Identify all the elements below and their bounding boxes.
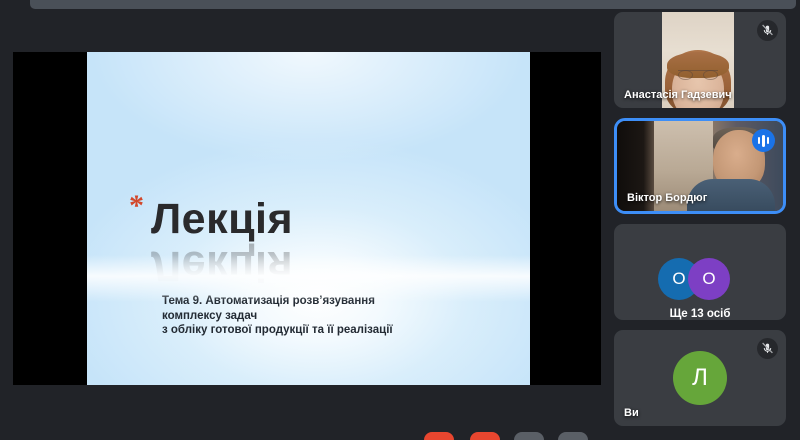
slide-title-reflection: Лекція bbox=[151, 242, 293, 290]
participant-tile-viktor[interactable]: Віктор Бордюг bbox=[614, 118, 786, 214]
slide-subtitle: Тема 9. Автоматизація розв’язування комп… bbox=[162, 294, 492, 338]
participant-filmstrip[interactable]: Анастасія Гадзевич Віктор Бордюг О О Ще … bbox=[614, 12, 786, 430]
slide-subtitle-line-3: з обліку готової продукції та її реаліза… bbox=[162, 323, 492, 338]
toolbar-button-2[interactable] bbox=[470, 432, 500, 440]
participant-name: Ви bbox=[624, 407, 639, 419]
presentation-slide: * Лекція Лекція Тема 9. Автоматизація ро… bbox=[87, 52, 530, 385]
mic-muted-icon bbox=[757, 338, 778, 359]
participant-name: Анастасія Гадзевич bbox=[624, 89, 732, 101]
meeting-toolbar[interactable] bbox=[0, 426, 614, 440]
toolbar-button-4[interactable] bbox=[558, 432, 588, 440]
slide-subtitle-line-2: комплексу задач bbox=[162, 309, 492, 324]
participant-name: Віктор Бордюг bbox=[627, 192, 707, 204]
avatar: Л bbox=[673, 351, 727, 405]
avatar: О bbox=[688, 258, 730, 300]
audio-wave-icon bbox=[752, 129, 775, 152]
avatar-group: О О bbox=[658, 258, 742, 300]
slide-subtitle-line-1: Тема 9. Автоматизація розв’язування bbox=[162, 294, 492, 309]
window-title-bar bbox=[30, 0, 796, 9]
participant-tile-self[interactable]: Л Ви bbox=[614, 330, 786, 426]
asterisk-bullet-icon: * bbox=[129, 191, 144, 221]
slide-title: Лекція bbox=[151, 195, 293, 243]
shared-screen-stage[interactable]: * Лекція Лекція Тема 9. Автоматизація ро… bbox=[13, 52, 601, 385]
toolbar-button-1[interactable] bbox=[424, 432, 454, 440]
participant-tile-more-people[interactable]: О О Ще 13 осіб bbox=[614, 224, 786, 320]
participant-tile-anastasia[interactable]: Анастасія Гадзевич bbox=[614, 12, 786, 108]
more-people-label: Ще 13 осіб bbox=[614, 308, 786, 320]
mic-muted-icon bbox=[757, 20, 778, 41]
toolbar-button-3[interactable] bbox=[514, 432, 544, 440]
slide-title-block: * Лекція Лекція bbox=[129, 195, 489, 290]
